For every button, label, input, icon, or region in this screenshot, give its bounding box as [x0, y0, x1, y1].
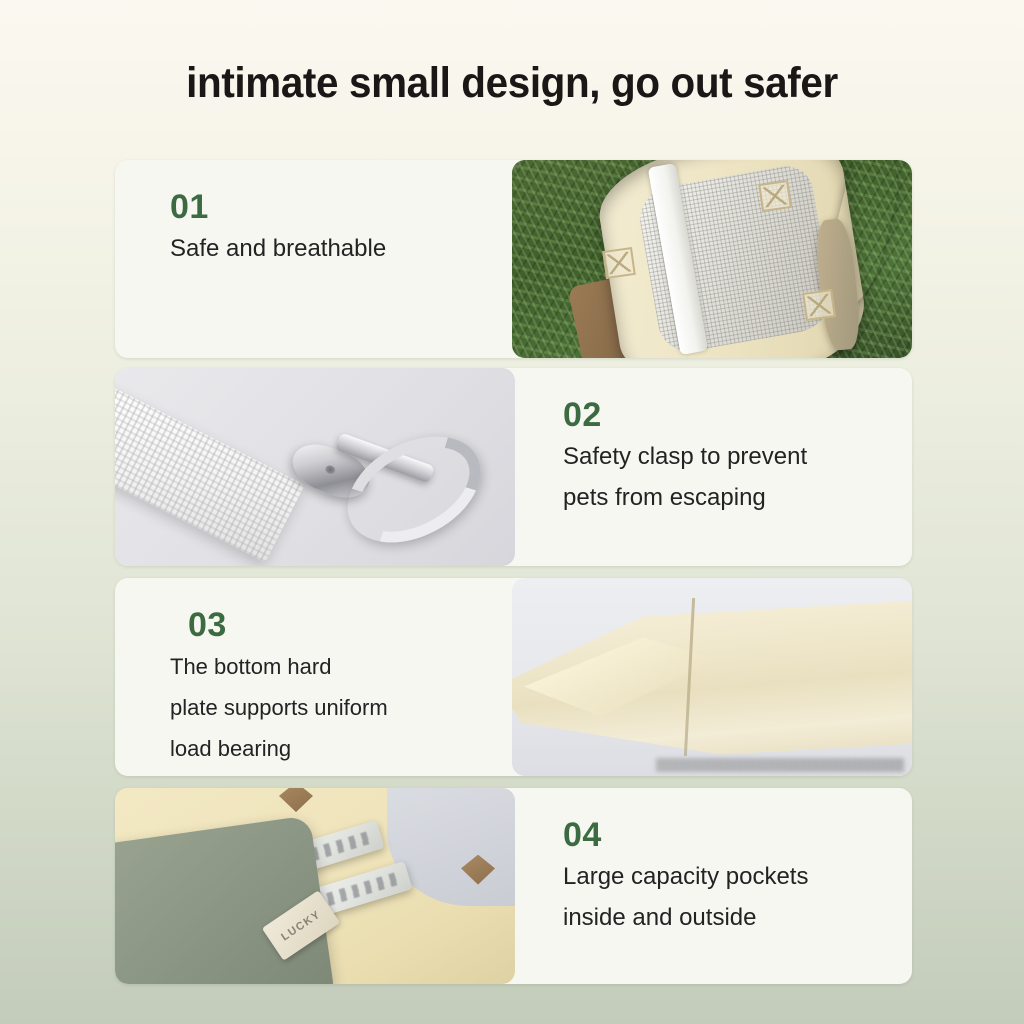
feature-line: Large capacity pockets [563, 856, 903, 897]
feature-card-02: 02 Safety clasp to prevent pets from esc… [115, 368, 912, 566]
feature-text-01: 01 Safe and breathable [115, 160, 512, 358]
feature-card-03: 03 The bottom hard plate supports unifor… [115, 578, 912, 776]
feature-photo-03 [512, 578, 912, 776]
feature-photo-01 [512, 160, 912, 358]
feature-line: load bearing [170, 728, 510, 769]
feature-description-04: Large capacity pockets inside and outsid… [563, 856, 903, 938]
feature-photo-02 [115, 368, 515, 566]
feature-card-04: LUCKY 04 Large capacity pockets inside a… [115, 788, 912, 984]
feature-number-04: 04 [563, 816, 912, 854]
stitch-tab-icon [758, 180, 792, 212]
feature-line: Safe and breathable [170, 228, 510, 269]
feature-description-02: Safety clasp to prevent pets from escapi… [563, 436, 903, 518]
feature-line: pets from escaping [563, 477, 903, 518]
sage-pocket-flap [115, 815, 334, 984]
feature-number-02: 02 [563, 396, 912, 434]
feature-description-03: The bottom hard plate supports uniform l… [170, 646, 510, 769]
feature-line: plate supports uniform [170, 687, 510, 728]
feature-line: Safety clasp to prevent [563, 436, 903, 477]
base-shadow [656, 758, 904, 772]
stitch-tab-icon [802, 289, 836, 321]
feature-line: The bottom hard [170, 646, 510, 687]
feature-text-02: 02 Safety clasp to prevent pets from esc… [515, 368, 912, 566]
feature-description-01: Safe and breathable [170, 228, 510, 269]
feature-number-01: 01 [170, 188, 512, 226]
feature-number-03: 03 [188, 606, 512, 644]
feature-text-04: 04 Large capacity pockets inside and out… [515, 788, 912, 984]
stitch-tab-icon [602, 247, 636, 279]
page-title: intimate small design, go out safer [31, 56, 994, 110]
brand-label-text: LUCKY [279, 908, 323, 943]
feature-photo-04: LUCKY [115, 788, 515, 984]
infographic-page: intimate small design, go out safer 01 S… [0, 0, 1024, 1024]
feature-line: inside and outside [563, 897, 903, 938]
feature-card-01: 01 Safe and breathable [115, 160, 912, 358]
feature-text-03: 03 The bottom hard plate supports unifor… [115, 578, 512, 776]
